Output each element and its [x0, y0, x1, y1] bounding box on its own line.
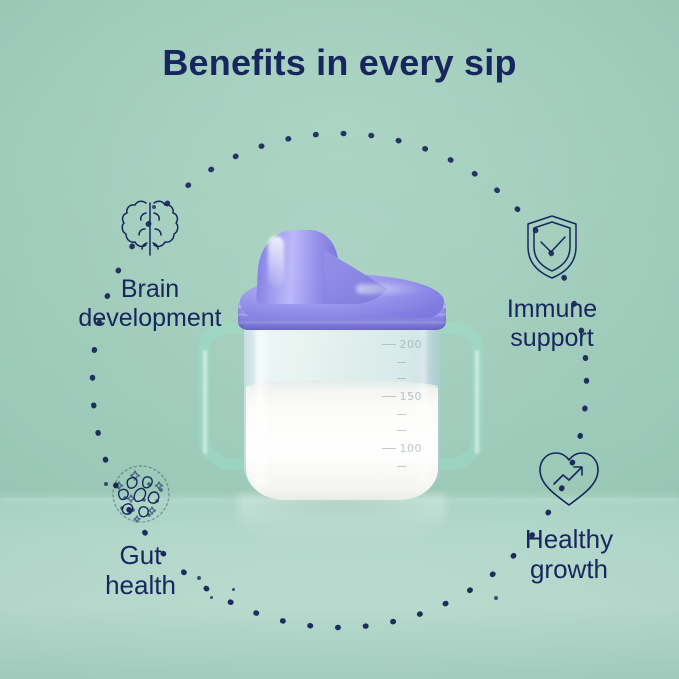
benefit-label: Immune support [507, 295, 597, 352]
heart-growth-icon [450, 448, 679, 510]
brain-icon [14, 197, 286, 261]
benefit-immune-support: Immune support [432, 213, 672, 353]
gut-microbiome-icon [38, 462, 243, 526]
background-speck [494, 596, 498, 600]
background-speck [197, 576, 201, 580]
shield-check-icon [432, 213, 672, 281]
background-speck [104, 482, 108, 486]
background-speck [152, 205, 156, 209]
benefit-gut-health: Gut health [38, 462, 243, 600]
benefit-healthy-growth: Healthy growth [450, 448, 679, 584]
benefit-label: Healthy growth [525, 524, 613, 584]
benefit-brain-development: Brain development [14, 197, 286, 333]
background-speck [232, 588, 235, 591]
benefit-label: Brain development [78, 275, 221, 332]
benefit-label: Gut health [105, 540, 176, 600]
product-benefits-graphic: 200 150 100 [0, 0, 679, 679]
page-title: Benefits in every sip [0, 42, 679, 84]
background-speck [210, 596, 213, 599]
